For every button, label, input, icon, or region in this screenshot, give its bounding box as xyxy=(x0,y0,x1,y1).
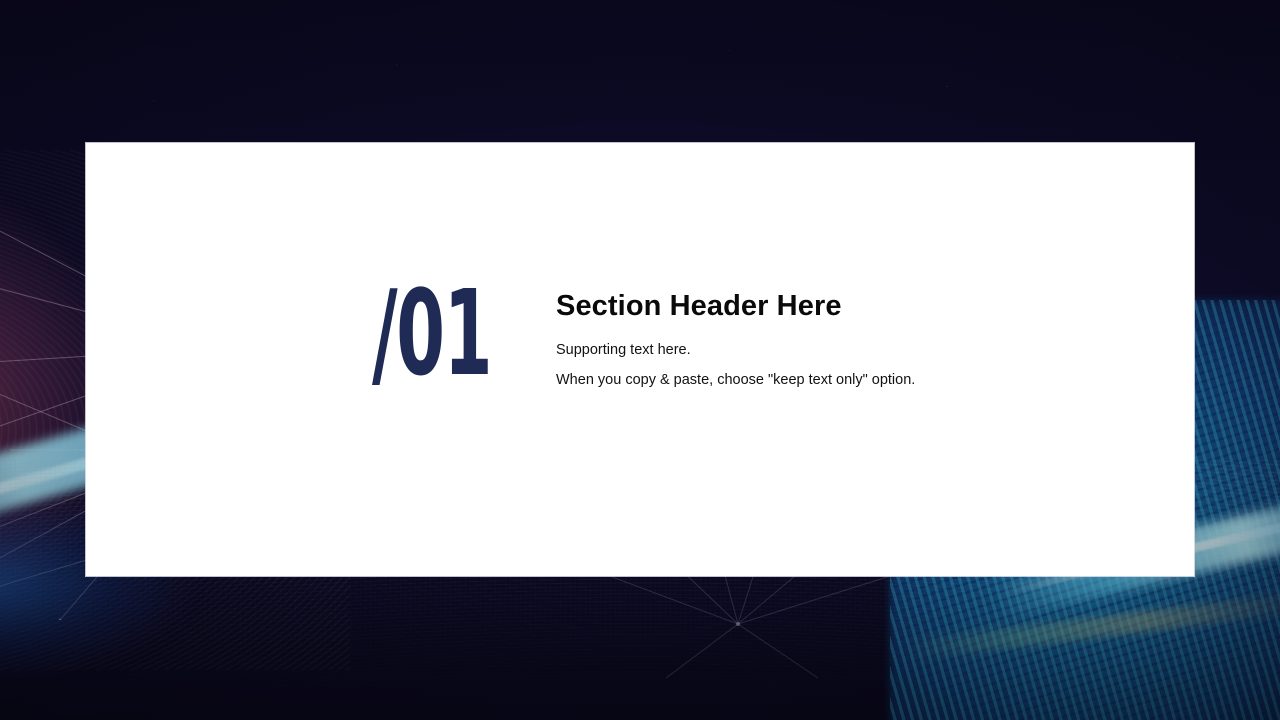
supporting-text-line-1: Supporting text here. xyxy=(556,340,915,361)
supporting-text-line-2: When you copy & paste, choose "keep text… xyxy=(556,370,915,391)
slide-content-card: /01 Section Header Here Supporting text … xyxy=(86,143,1194,576)
section-number: /01 xyxy=(372,283,486,384)
section-intro-block: /01 Section Header Here Supporting text … xyxy=(372,279,915,391)
section-header-title: Section Header Here xyxy=(556,289,915,323)
section-text-block: Section Header Here Supporting text here… xyxy=(556,279,915,391)
presentation-slide: /01 Section Header Here Supporting text … xyxy=(0,0,1280,720)
